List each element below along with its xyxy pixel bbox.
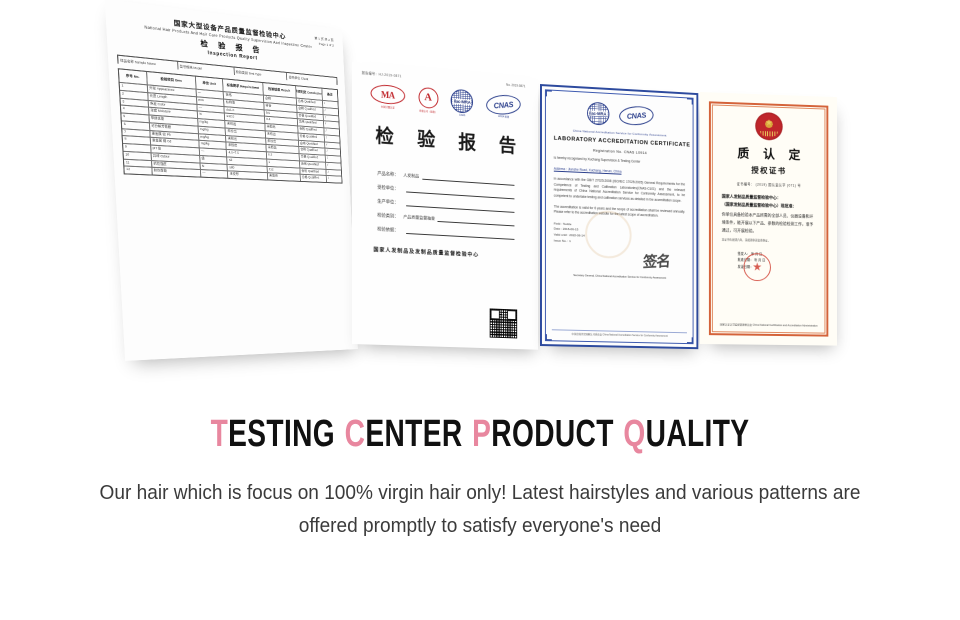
- form-field-value: 产品质量监督抽查: [400, 214, 438, 222]
- cert1-topbar-cell: 型号规格 Model: [178, 62, 235, 75]
- cal-logo: A 审查认可（验收）: [418, 87, 438, 114]
- subtitle-line-2: offered promptly to satisfy everyone's n…: [62, 509, 899, 542]
- cert3-signature: 签名: [553, 250, 670, 275]
- cert3-logos: ilac-MRA CNAS: [554, 100, 685, 130]
- form-field-line: [406, 186, 514, 200]
- ilac-mra-text: ilac-MRA: [588, 111, 607, 117]
- headline-word: QUALITY: [623, 413, 749, 455]
- cal-logo-sub: 审查认可（验收）: [418, 108, 438, 114]
- cert1-page-meta: 第 1 页 共 2 页 Page 1 of 2: [314, 36, 334, 49]
- form-field-label: 检验依据：: [377, 226, 398, 233]
- cert3-footer: 中国合格评定国家认可委员会 China National Accreditati…: [552, 330, 687, 339]
- page-title: TESTINGCENTERPRODUCTQUALITY: [125, 415, 835, 453]
- table-cell: 11: [124, 159, 152, 167]
- table-cell: /: [324, 121, 339, 128]
- table-cell: /: [324, 115, 339, 122]
- corner-mark-tl: [546, 90, 552, 96]
- subtitle-line-1: Our hair which is focus on 100% virgin h…: [62, 476, 899, 509]
- headline-word-rest: RODUCT: [491, 413, 614, 455]
- cert1-topbar-cell: 样品名称 Sample Name: [118, 56, 178, 70]
- headline-word-initial: Q: [623, 413, 645, 455]
- headline-word-initial: T: [211, 413, 229, 455]
- ilac-mra-logo-text: ilac-MRA: [453, 98, 472, 104]
- red-round-seal-icon: [743, 253, 770, 281]
- table-cell: /: [323, 101, 338, 108]
- cert3-address-line: Address : Jianshe Road, Xuchang, Henan, …: [554, 166, 685, 178]
- cert4-note: 本证书有效期六年，请按期申请复查换证。: [722, 238, 816, 244]
- form-field-label: 生产单位：: [377, 199, 398, 206]
- headline-word: TESTING: [211, 413, 335, 455]
- cnas-logo-text: CNAS: [493, 100, 514, 110]
- cert2-fields: 产品名称：人发制品受检单位：生产单位：检验类别：产品质量监督抽查检验依据：: [377, 170, 514, 240]
- cnas-icon: CNAS: [618, 105, 655, 126]
- form-field-line: [438, 215, 515, 226]
- cma-logo-sub: 中国计量认证: [370, 103, 405, 110]
- headline-word-rest: UALITY: [646, 413, 750, 455]
- table-cell: /: [326, 156, 341, 163]
- cert3-lab-line: is hereby recognised by Xuchang Supervis…: [554, 156, 685, 168]
- corner-mark-br: [687, 337, 693, 343]
- form-field-line: [422, 173, 514, 186]
- cert4-cert-no: 证书编号： (2019) 国认监认字 (071) 号: [716, 180, 822, 188]
- table-cell: 合格 Qualified: [300, 175, 327, 182]
- certificate-quality-authorization[interactable]: 质 认 定 授权证书 证书编号： (2019) 国认监认字 (071) 号 国家…: [700, 92, 837, 346]
- cert1-topbar-cell: 检验类别 Test Type: [234, 68, 287, 81]
- table-header-cell: 序号 No.: [119, 69, 147, 84]
- headline-word: CENTER: [345, 413, 463, 455]
- table-cell: 9: [123, 144, 151, 152]
- cert2-title: 检 验 报 告: [352, 119, 538, 160]
- cert4-bold-line2: （国家发制品质量监督检验中心）现批准：: [722, 200, 816, 210]
- cert4-signature-block: 签发人： 年 月 日批准日期： 年 月 日发证日期：: [722, 250, 816, 272]
- table-cell: 12: [124, 167, 152, 175]
- table-cell: 未变形: [268, 173, 301, 180]
- cert4-title-line2: 授权证书: [716, 163, 822, 177]
- form-field-row: 产品名称：人发制品: [377, 170, 514, 186]
- form-field-row: 受检单位：: [377, 184, 514, 200]
- cnas-text: CNAS: [626, 111, 646, 121]
- certificate-inspection-report-cn[interactable]: 报告编号：HJ-2019-0871 No. 2019-0871 MA 中国计量认…: [352, 62, 538, 350]
- table-cell: N: [200, 163, 228, 171]
- form-field-line: [406, 199, 514, 212]
- cert4-body: 你单位具备检验本产品所需的全部人员、仪器设备和环境条件，能开展以下产品、参数的检…: [722, 211, 816, 237]
- cert1-topbar-cell: 委托单位 Client: [287, 73, 337, 85]
- cert4-title-line1: 质 认 定: [716, 144, 822, 164]
- ilac-mra-logo-sub: CNAS: [451, 113, 473, 118]
- ilac-mra-logo: ilac-MRA CNAS: [451, 89, 473, 118]
- form-field-value: 人发制品: [400, 172, 422, 179]
- table-cell: 未变形: [228, 172, 268, 180]
- cal-logo-text: A: [424, 92, 432, 103]
- table-cell: /: [327, 176, 342, 182]
- ilac-mra-icon: ilac-MRA: [587, 102, 609, 126]
- certificate-inspection-report-table[interactable]: 国家大型设备产品质量监督检验中心 National Hair Products …: [105, 0, 358, 361]
- headline-word-rest: ENTER: [365, 413, 462, 455]
- form-field-label: 检验类别：: [377, 212, 398, 219]
- headline-word-rest: ESTING: [228, 413, 335, 455]
- table-cell: /: [326, 163, 341, 170]
- table-header-cell: 单位 Unit: [196, 77, 224, 91]
- headline-word: PRODUCT: [472, 413, 614, 455]
- national-emblem-icon: [755, 112, 782, 141]
- certificate-gallery: 国家大型设备产品质量监督检验中心 National Hair Products …: [0, 0, 960, 400]
- corner-mark-tr: [687, 98, 693, 104]
- table-cell: —: [201, 170, 229, 177]
- form-field-label: 产品名称：: [377, 171, 398, 178]
- promo-banner: 国家大型设备产品质量监督检验中心 National Hair Products …: [0, 0, 960, 620]
- table-cell: /: [325, 149, 340, 156]
- qr-code-icon: [489, 307, 518, 339]
- table-cell: /: [326, 169, 341, 176]
- form-field-row: 检验类别：产品质量监督抽查: [377, 211, 514, 226]
- table-header-cell: 单项判定 Conclusion: [296, 86, 323, 100]
- cert3-body: in accordance with the GB/T 27025:2008 (…: [554, 177, 685, 205]
- table-cell: /: [323, 108, 338, 115]
- page-subtitle: Our hair which is focus on 100% virgin h…: [62, 476, 899, 542]
- headline-word-initial: C: [345, 413, 366, 455]
- cert2-issuer: 国家人发制品及发制品质量监督检验中心: [373, 246, 538, 261]
- table-cell: 级: [200, 156, 228, 164]
- cert3-registration: Registration No. CNAS L0914: [554, 147, 685, 157]
- cnas-logo: CNAS L0914 检测: [486, 93, 521, 120]
- certificate-laboratory-accreditation[interactable]: ilac-MRA CNAS China National Accreditati…: [540, 84, 698, 349]
- form-field-label: 受检单位：: [377, 185, 398, 192]
- cma-logo-text: MA: [381, 89, 394, 100]
- table-cell: /: [325, 135, 340, 142]
- table-cell: 10: [124, 152, 152, 160]
- table-cell: 耐热性能: [152, 168, 201, 176]
- headline-word-initial: P: [472, 413, 491, 455]
- table-cell: /: [324, 128, 339, 135]
- table-cell: 合格 Qualified: [300, 168, 327, 175]
- form-field-row: 检验依据：: [377, 225, 514, 239]
- cert1-table: 序号 No.检验项目 Item单位 Unit标准要求 Requirement检验…: [118, 68, 343, 184]
- table-header-cell: 备注: [322, 89, 337, 101]
- cert3-heading: LABORATORY ACCREDITATION CERTIFICATE: [554, 136, 685, 148]
- form-field-line: [406, 227, 514, 240]
- form-field-row: 生产单位：: [377, 198, 514, 213]
- cert4-footer: 国家认证认可监督管理委员会 China National Certificati…: [720, 322, 818, 327]
- cma-logo: MA 中国计量认证: [370, 84, 405, 110]
- table-cell: /: [325, 142, 340, 149]
